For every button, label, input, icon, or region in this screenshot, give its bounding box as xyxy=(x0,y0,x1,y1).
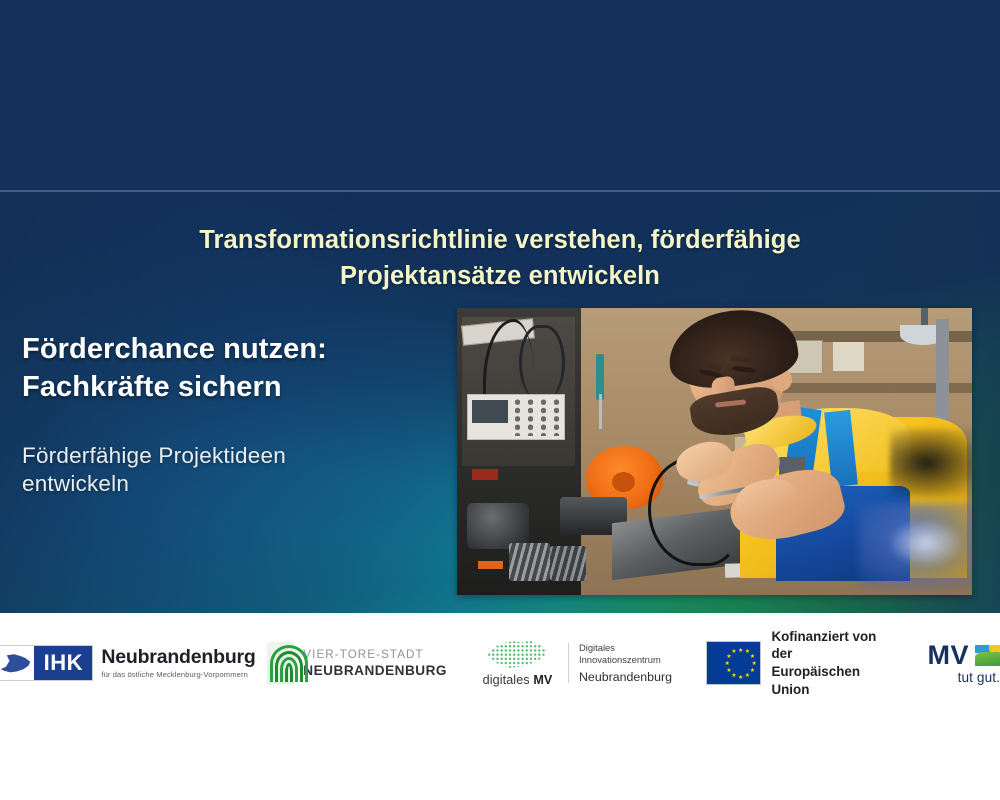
photo-foreground-blur-dark xyxy=(890,429,972,498)
eu-line-2: Europäischen Union xyxy=(771,663,880,698)
photo-box-b xyxy=(833,342,864,371)
logo-vier-tore-stadt: VIER-TORE-STADT NEUBRANDENBURG xyxy=(267,642,447,684)
photo-orange-hub xyxy=(612,472,635,492)
eu-star-icon: ★ xyxy=(752,662,756,666)
page-title: Förderchance nutzen: Fachkräfte sichern xyxy=(22,330,452,407)
eu-star-icon: ★ xyxy=(726,669,730,673)
photo-instrument-screen xyxy=(472,400,508,423)
ihk-subline: für das östliche Mecklenburg-Vorpommern xyxy=(101,670,255,679)
eu-star-icon: ★ xyxy=(750,655,754,659)
eu-star-icon: ★ xyxy=(725,662,729,666)
mv-wordmark: MV xyxy=(928,642,970,669)
event-headline: Transformationsrichtlinie verstehen, för… xyxy=(0,222,1000,294)
partner-logo-bar: IHK Neubrandenburg für das östliche Meck… xyxy=(0,613,1000,713)
vts-line-2: NEUBRANDENBURG xyxy=(303,663,447,678)
eu-line-1: Kofinanziert von der xyxy=(771,628,880,663)
digitales-mv-dotted-map-icon xyxy=(487,640,549,670)
footer-white-space xyxy=(0,713,1000,800)
logo-eu-cofunding: ★★★★★★★★★★★★ Kofinanziert von der Europä… xyxy=(706,628,880,699)
spiral-gate-icon xyxy=(267,642,294,684)
digitales-mv-word-plain: digitales xyxy=(483,673,534,687)
logo-mv-tut-gut: MV tut gut. xyxy=(906,642,1000,685)
top-navy-band xyxy=(0,0,1000,190)
eu-star-icon: ★ xyxy=(731,650,735,654)
eu-star-icon: ★ xyxy=(726,655,730,659)
digitales-mv-word-bold: MV xyxy=(533,673,552,687)
slide-page: Transformationsrichtlinie verstehen, för… xyxy=(0,0,1000,800)
ihk-name: Neubrandenburg xyxy=(101,647,255,667)
mv-landscape-square-icon xyxy=(975,645,1000,666)
logo-digitales-mv-diz: digitales MV Digitales Innovationszentru… xyxy=(477,640,672,687)
photo-orange-small xyxy=(478,561,504,570)
eu-star-icon: ★ xyxy=(745,674,749,678)
eu-star-icon: ★ xyxy=(738,649,742,653)
ihk-abbr-label: IHK xyxy=(34,646,92,680)
logo-ihk-neubrandenburg: IHK Neubrandenburg für das östliche Meck… xyxy=(10,645,235,681)
eu-star-icon: ★ xyxy=(731,674,735,678)
logo-divider xyxy=(568,643,569,683)
left-text-column: Förderchance nutzen: Fachkräfte sichern … xyxy=(22,330,452,499)
photo-wire-b xyxy=(519,325,565,400)
eu-star-icon: ★ xyxy=(745,650,749,654)
photo-screwdriver-shaft xyxy=(599,394,603,428)
vts-line-1: VIER-TORE-STADT xyxy=(303,648,447,661)
photo-instrument-keypad xyxy=(511,398,563,435)
mecklenburg-map-icon xyxy=(0,646,34,680)
photo-spring-b xyxy=(550,546,586,580)
workshop-photo xyxy=(457,308,972,595)
photo-foreground-blur-light xyxy=(890,520,962,566)
diz-line-2: Innovationszentrum xyxy=(579,654,672,666)
photo-spring-a xyxy=(509,543,550,580)
photo-red-part xyxy=(472,469,498,480)
eu-star-icon: ★ xyxy=(750,669,754,673)
mv-tagline: tut gut. xyxy=(958,670,1000,685)
photo-cylinder-b xyxy=(467,503,529,549)
ihk-mark: IHK xyxy=(0,645,93,681)
page-subtitle: Förderfähige Projektideen entwickeln xyxy=(22,442,452,500)
diz-line-3: Neubrandenburg xyxy=(579,670,672,684)
diz-line-1: Digitales xyxy=(579,642,672,654)
eu-flag-icon: ★★★★★★★★★★★★ xyxy=(706,641,761,685)
eu-star-icon: ★ xyxy=(738,676,742,680)
digitales-mv-wordmark: digitales MV xyxy=(483,673,553,687)
photo-screwdriver-handle xyxy=(596,354,604,400)
